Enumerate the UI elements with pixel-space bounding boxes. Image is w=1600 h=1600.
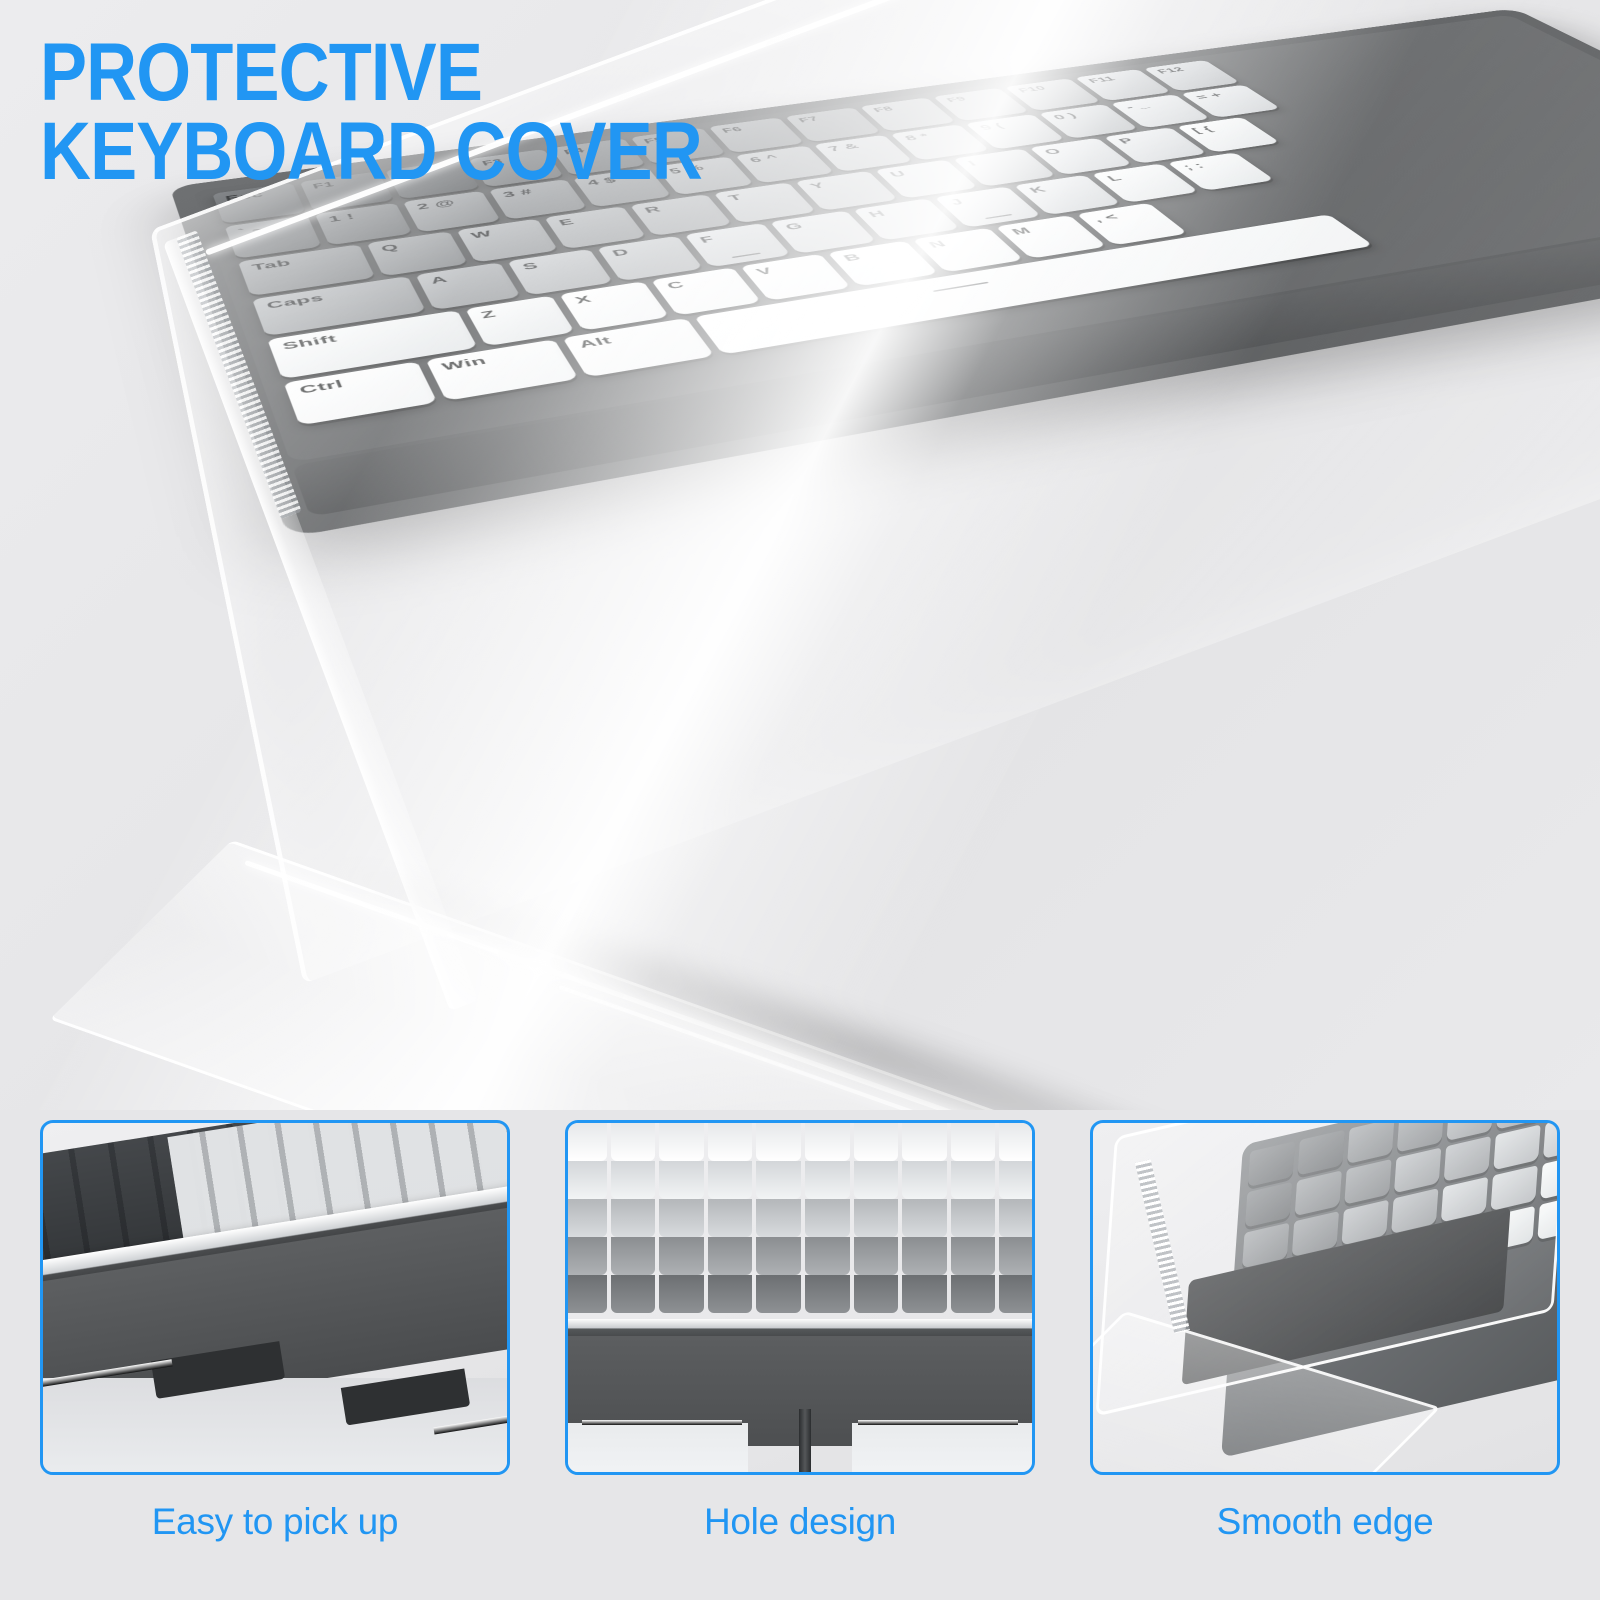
keycap[interactable]: A [416, 262, 521, 310]
keycap[interactable]: S [507, 249, 613, 295]
keycap[interactable]: Shift [267, 310, 477, 379]
thumb-cover-bezel [568, 1319, 1035, 1337]
thumb-acrylic-edge [582, 1420, 742, 1425]
keycap[interactable]: D [597, 236, 703, 281]
feature-thumbnail-side-view[interactable] [40, 1120, 510, 1475]
keycap[interactable]: Z [465, 296, 575, 347]
keycap[interactable]: F [685, 223, 791, 267]
keycap[interactable]: X [559, 281, 669, 330]
keycap[interactable]: Ctrl [284, 361, 438, 425]
keycap[interactable]: Win [426, 339, 579, 401]
keycap[interactable]: Caps [252, 276, 426, 336]
homing-bar-icon [732, 253, 761, 259]
keycap[interactable]: C [651, 267, 761, 315]
keycap[interactable]: Tab [238, 244, 375, 296]
feature-caption: Easy to pick up [152, 1501, 398, 1543]
keycap[interactable]: ` ~ [225, 215, 322, 258]
page-title: PROTECTIVE KEYBOARD COVER [40, 34, 702, 191]
keycap[interactable]: W [457, 219, 559, 263]
feature-strip: Easy to pick up Hole design [0, 1110, 1600, 1600]
homing-bar-icon [985, 214, 1013, 219]
thumb-cover-notch [568, 1423, 748, 1475]
homing-bar-icon [933, 282, 989, 292]
feature-caption: Hole design [704, 1501, 896, 1543]
cable-hole-icon [799, 1409, 811, 1475]
hero-section: EscF1F2F3F4F5F6F7F8F9F10F11F12` ~1 !2 @3… [0, 0, 1600, 1110]
feature-easy-to-pick-up[interactable]: Easy to pick up [40, 1120, 510, 1600]
feature-smooth-edge[interactable]: Smooth edge [1090, 1120, 1560, 1600]
feature-thumbnail-hole-view[interactable] [565, 1120, 1035, 1475]
feature-hole-design[interactable]: Hole design [565, 1120, 1035, 1600]
thumb-inverted-keys [565, 1123, 1035, 1313]
thumb-acrylic-edge [858, 1420, 1018, 1425]
keycap[interactable]: Alt [563, 318, 715, 377]
keycap[interactable]: V [740, 254, 851, 301]
feature-thumbnail-corner-view[interactable] [1090, 1120, 1560, 1475]
feature-caption: Smooth edge [1217, 1501, 1434, 1543]
thumb-cover-notch [852, 1423, 1032, 1475]
keycap[interactable]: Q [367, 231, 468, 276]
